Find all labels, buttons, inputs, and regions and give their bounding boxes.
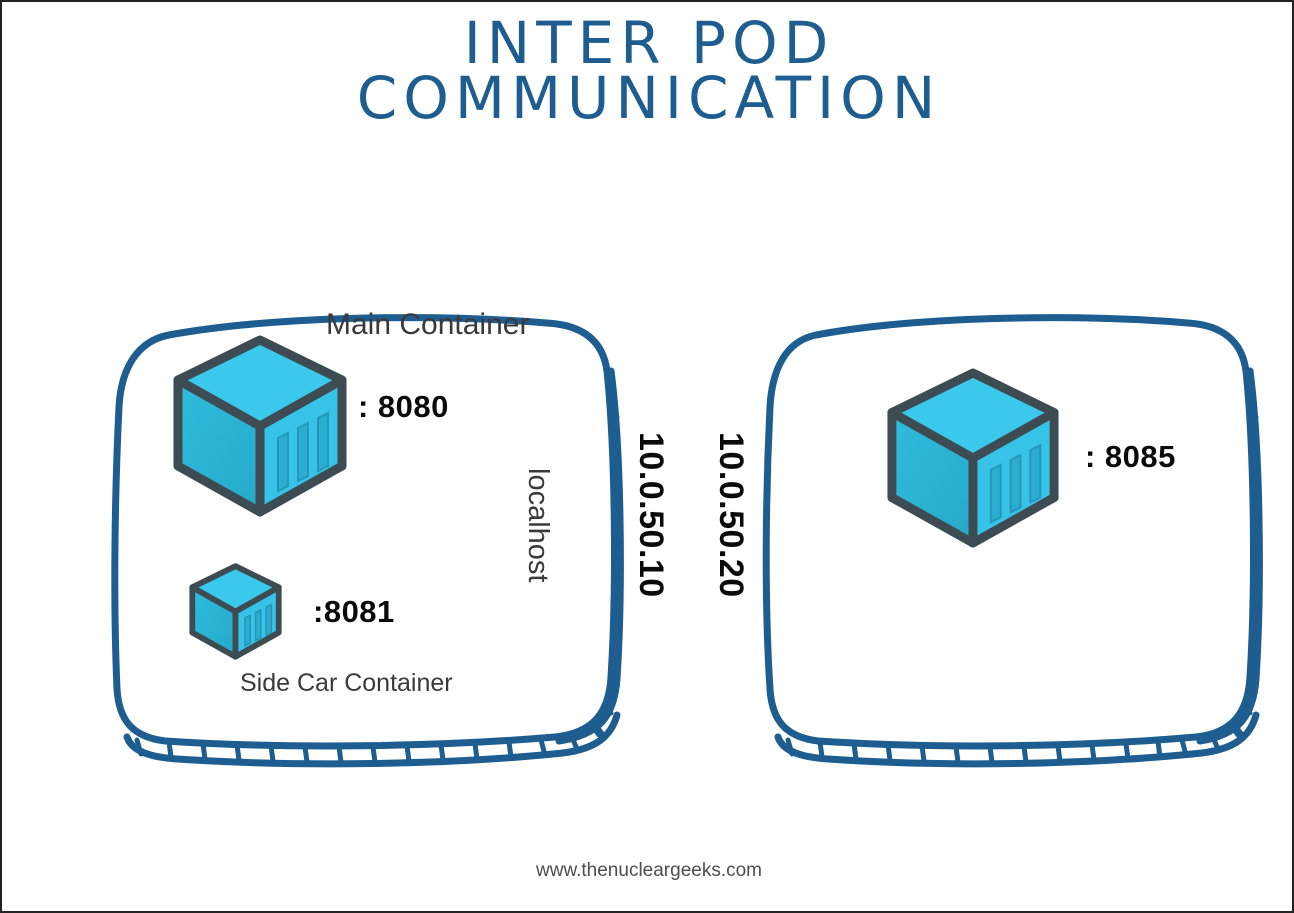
title-line-2: COMMUNICATION xyxy=(2,71,1294,126)
container-cube-icon-main xyxy=(170,334,350,520)
diagram-canvas: INTER POD COMMUNICATION xyxy=(0,0,1294,913)
right-container-port: : 8085 xyxy=(1085,439,1176,475)
pod-right-ip-label: 10.0.50.20 xyxy=(711,432,750,598)
container-cube-icon-sidecar xyxy=(188,563,283,661)
footer-watermark: www.thenucleargeeks.com xyxy=(2,860,1294,882)
side-car-container-label: Side Car Container xyxy=(240,669,453,698)
main-container-label: Main Container xyxy=(326,308,529,342)
localhost-label: localhost xyxy=(521,468,554,582)
page-title: INTER POD COMMUNICATION xyxy=(2,16,1294,126)
title-line-1: INTER POD xyxy=(2,16,1294,71)
main-container-port: : 8080 xyxy=(358,389,449,425)
side-car-container-port: :8081 xyxy=(313,594,395,630)
pod-left-ip-label: 10.0.50.10 xyxy=(631,432,670,598)
container-cube-icon-right xyxy=(884,367,1062,551)
